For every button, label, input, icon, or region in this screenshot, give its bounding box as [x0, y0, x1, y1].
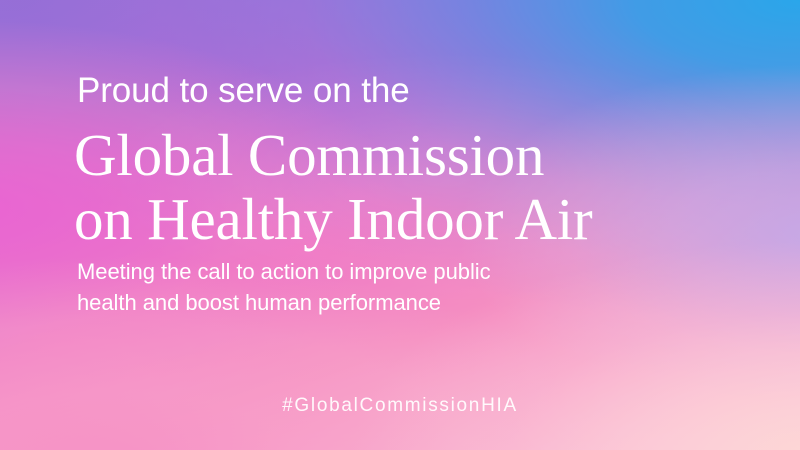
headline-line-1: Global Commission	[74, 123, 593, 187]
headline: Global Commission on Healthy Indoor Air	[74, 123, 593, 252]
hashtag-text: #GlobalCommissionHIA	[0, 395, 800, 417]
social-graphic-card: Proud to serve on the Global Commission …	[0, 0, 800, 450]
text-content-layer: Proud to serve on the Global Commission …	[0, 0, 800, 450]
subtitle: Meeting the call to action to improve pu…	[77, 256, 491, 318]
subtitle-line-1: Meeting the call to action to improve pu…	[77, 256, 491, 287]
eyebrow-text: Proud to serve on the	[77, 72, 410, 110]
headline-line-2: on Healthy Indoor Air	[74, 187, 593, 251]
subtitle-line-2: health and boost human performance	[77, 287, 491, 318]
